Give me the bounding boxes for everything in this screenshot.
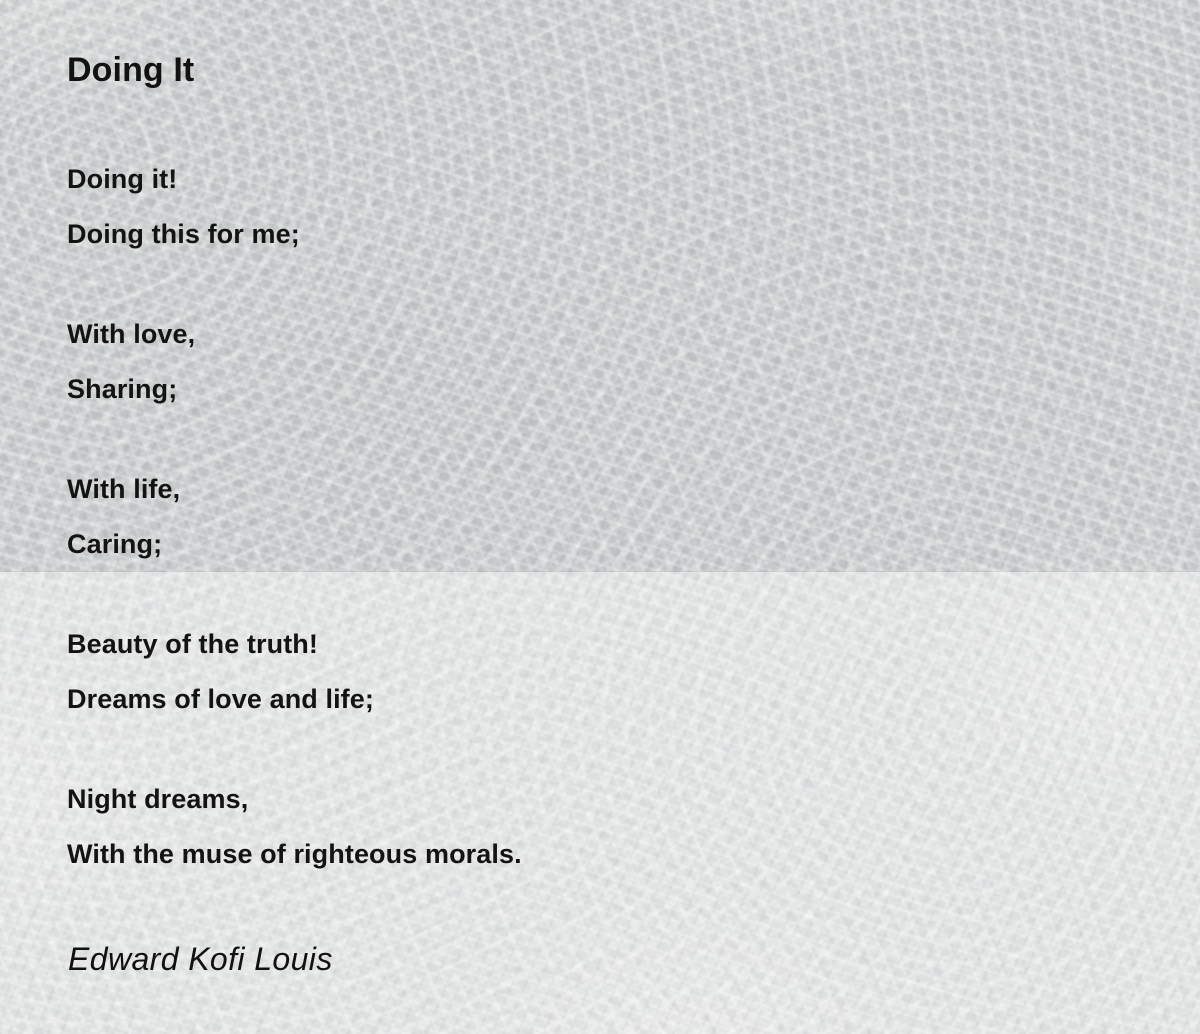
poem-line: Night dreams, (67, 772, 1127, 827)
poem-stanza: Doing it! Doing this for me; (67, 152, 1127, 262)
poem-title: Doing It (67, 48, 194, 92)
poem-line: Doing it! (67, 152, 1127, 207)
poem-line: With life, (67, 462, 1127, 517)
poem-content: Doing It Doing it! Doing this for me; Wi… (0, 0, 1200, 1034)
poem-stanza: With life, Caring; (67, 462, 1127, 572)
poem-line: Dreams of love and life; (67, 672, 1127, 727)
poem-stanza: With love, Sharing; (67, 307, 1127, 417)
poem-line: Doing this for me; (67, 207, 1127, 262)
poem-stanza: Beauty of the truth! Dreams of love and … (67, 617, 1127, 727)
poem-stanza: Night dreams, With the muse of righteous… (67, 772, 1127, 882)
poem-line: With the muse of righteous morals. (67, 827, 1127, 882)
poem-line: Caring; (67, 517, 1127, 572)
poem-line: With love, (67, 307, 1127, 362)
poem-line: Beauty of the truth! (67, 617, 1127, 672)
poem-image: Doing It Doing it! Doing this for me; Wi… (0, 0, 1200, 1034)
poem-author: Edward Kofi Louis (68, 938, 333, 980)
poem-body: Doing it! Doing this for me; With love, … (67, 152, 1127, 882)
poem-line: Sharing; (67, 362, 1127, 417)
